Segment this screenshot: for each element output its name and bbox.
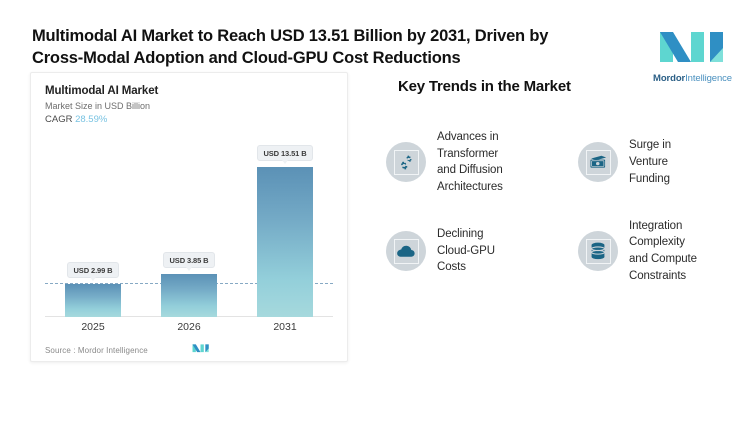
trend-label-line: Architectures bbox=[437, 179, 503, 196]
trend-label-line: Integration bbox=[629, 218, 697, 235]
bar-series: USD 2.99 BUSD 3.85 BUSD 13.51 B bbox=[45, 135, 333, 317]
trend-icon-badge bbox=[578, 231, 618, 271]
trend-label-line: Surge in bbox=[629, 137, 671, 154]
trend-icon-badge bbox=[386, 231, 426, 271]
market-chart-card: Multimodal AI Market Market Size in USD … bbox=[30, 72, 348, 362]
trend-label-line: Declining bbox=[437, 226, 495, 243]
trend-label-line: Constraints bbox=[629, 268, 697, 285]
chart-source-row: Source : Mordor Intelligence bbox=[45, 341, 333, 359]
page-header: Multimodal AI Market to Reach USD 13.51 … bbox=[0, 0, 750, 72]
mordor-logo-icon bbox=[192, 341, 210, 359]
trend-label-line: Cloud-GPU bbox=[437, 243, 495, 260]
trend-label-line: Advances in bbox=[437, 129, 503, 146]
bar-value-label: USD 3.85 B bbox=[163, 252, 214, 268]
trend-label: DecliningCloud-GPUCosts bbox=[437, 226, 495, 276]
bar-column: USD 13.51 B bbox=[257, 135, 313, 317]
bar-value-label: USD 13.51 B bbox=[257, 145, 312, 161]
bar bbox=[65, 284, 121, 317]
chart-subtitle: Market Size in USD Billion bbox=[45, 101, 333, 111]
trend-item: DecliningCloud-GPUCosts bbox=[386, 218, 572, 285]
trend-label-line: and Compute bbox=[629, 251, 697, 268]
chart-plot-area: USD 2.99 BUSD 3.85 BUSD 13.51 B bbox=[45, 135, 333, 317]
page-title: Multimodal AI Market to Reach USD 13.51 … bbox=[32, 26, 597, 70]
database-icon bbox=[586, 239, 611, 264]
page-content: Multimodal AI Market Market Size in USD … bbox=[0, 72, 750, 362]
trend-label-line: Funding bbox=[629, 171, 671, 188]
trend-label-line: Costs bbox=[437, 259, 495, 276]
trend-label-line: Complexity bbox=[629, 234, 697, 251]
trend-label-line: Venture bbox=[629, 154, 671, 171]
bar bbox=[161, 274, 217, 317]
gears-icon bbox=[394, 150, 419, 175]
trend-label-line: Transformer bbox=[437, 146, 503, 163]
x-axis-label: 2025 bbox=[65, 321, 121, 333]
trend-item: IntegrationComplexityand ComputeConstrai… bbox=[578, 218, 732, 285]
trend-icon-badge bbox=[578, 142, 618, 182]
trend-label: Advances inTransformerand DiffusionArchi… bbox=[437, 129, 503, 196]
key-trends-grid: Advances inTransformerand DiffusionArchi… bbox=[386, 129, 732, 284]
key-trends-title: Key Trends in the Market bbox=[398, 78, 732, 95]
mordor-logo-icon bbox=[658, 28, 728, 69]
banknotes-icon bbox=[586, 150, 611, 175]
chart-x-axis: 202520262031 bbox=[45, 321, 333, 333]
trend-item: Surge inVentureFunding bbox=[578, 129, 732, 196]
trend-label: IntegrationComplexityand ComputeConstrai… bbox=[629, 218, 697, 285]
cloud-icon bbox=[394, 239, 419, 264]
bar-value-label: USD 2.99 B bbox=[67, 262, 118, 278]
bar-column: USD 3.85 B bbox=[161, 135, 217, 317]
x-axis-label: 2026 bbox=[161, 321, 217, 333]
chart-source-label: Source : Mordor Intelligence bbox=[45, 346, 148, 355]
x-axis-label: 2031 bbox=[257, 321, 313, 333]
trend-item: Advances inTransformerand DiffusionArchi… bbox=[386, 129, 572, 196]
trend-label: Surge inVentureFunding bbox=[629, 137, 671, 187]
trend-label-line: and Diffusion bbox=[437, 162, 503, 179]
chart-title: Multimodal AI Market bbox=[45, 85, 333, 97]
bar bbox=[257, 167, 313, 317]
key-trends-panel: Key Trends in the Market Advances inTran… bbox=[348, 72, 732, 362]
bar-column: USD 2.99 B bbox=[65, 135, 121, 317]
cagr-value: 28.59% bbox=[75, 114, 107, 125]
trend-icon-badge bbox=[386, 142, 426, 182]
chart-cagr: CAGR 28.59% bbox=[45, 114, 333, 125]
cagr-label: CAGR bbox=[45, 114, 72, 125]
